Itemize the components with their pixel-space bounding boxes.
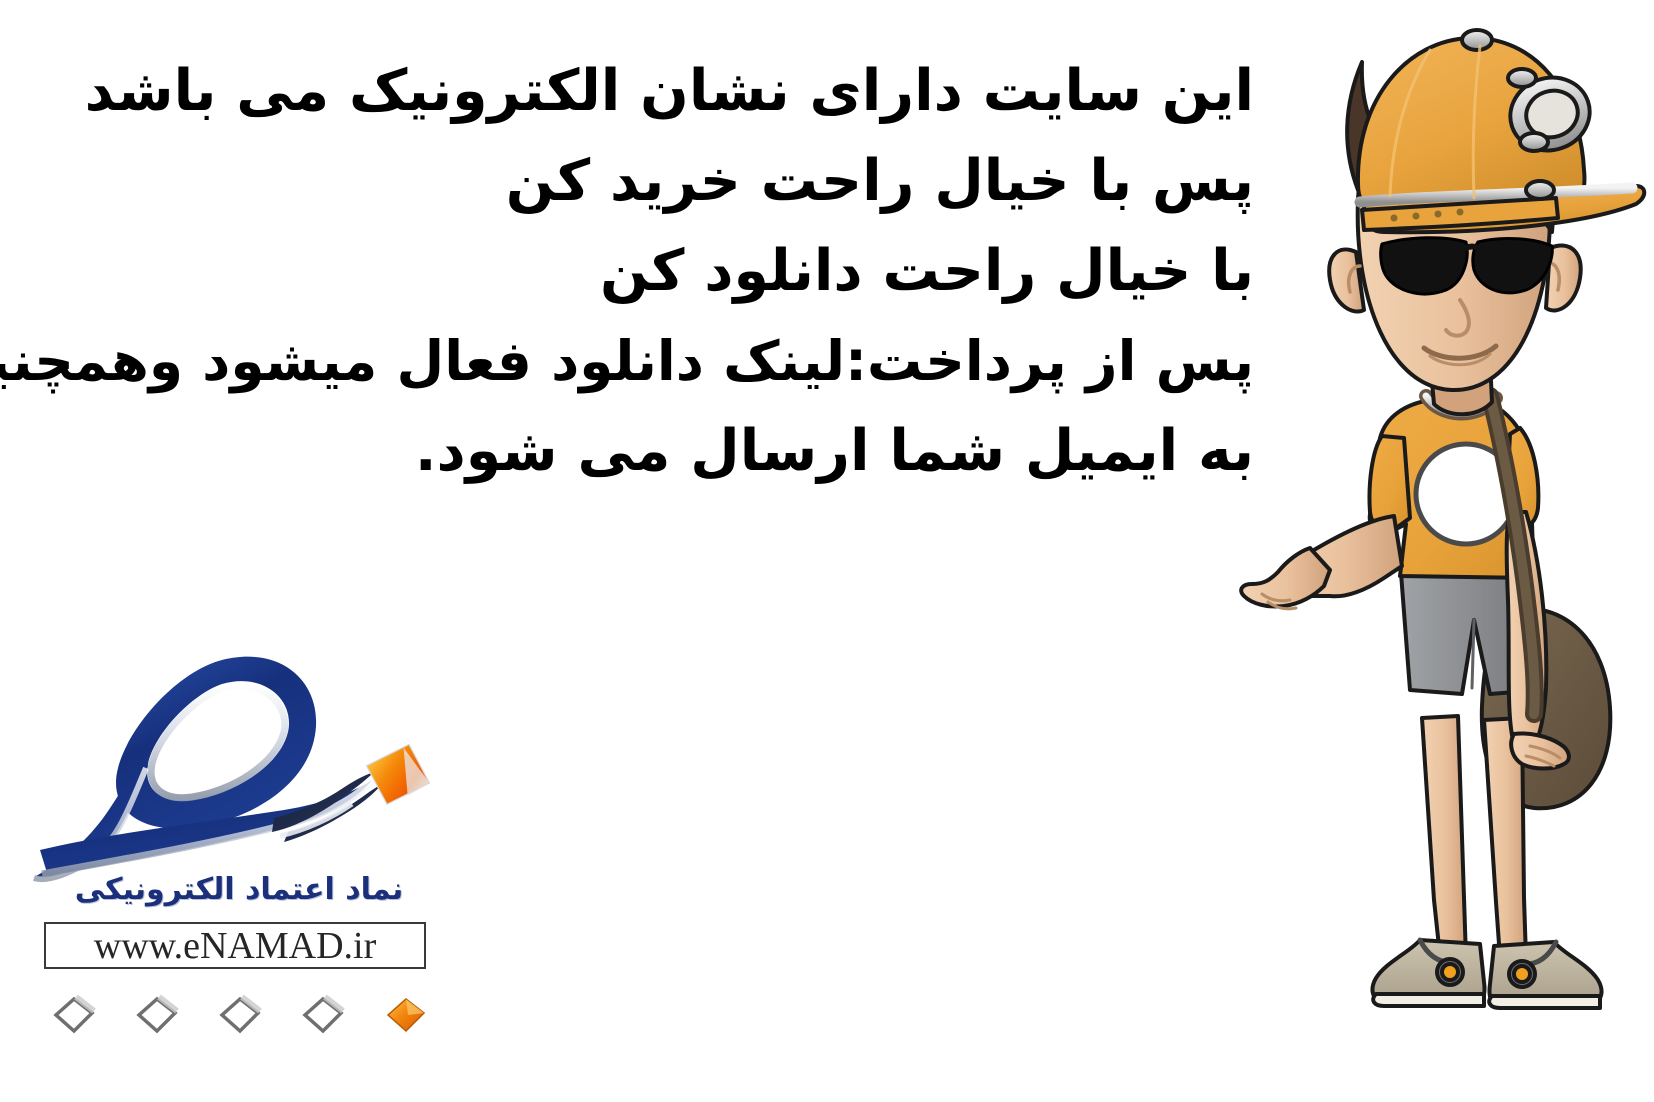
rating-diamond-empty xyxy=(135,993,179,1037)
enamad-logo-icon xyxy=(26,636,446,886)
rating-diamond-filled xyxy=(384,993,428,1037)
rating-diamond-empty xyxy=(52,993,96,1037)
enamad-trust-seal[interactable]: نماد اعتماد الکترونیکی www.eNAMAD.ir xyxy=(26,636,446,1056)
message-block: این سایت دارای نشان الکترونیک می باشد پس… xyxy=(40,46,1254,496)
message-line-3: با خیال راحت دانلود کن xyxy=(40,226,1254,316)
message-line-2: پس با خیال راحت خرید کن xyxy=(40,136,1254,226)
message-line-1: این سایت دارای نشان الکترونیک می باشد xyxy=(40,46,1254,136)
rating-diamond-empty xyxy=(218,993,262,1037)
enamad-trust-banner: این سایت دارای نشان الکترونیک می باشد پس… xyxy=(0,0,1654,1102)
message-line-5: به ایمیل شما ارسال می شود. xyxy=(40,406,1254,496)
message-line-4: پس از پرداخت:لینک دانلود فعال میشود وهمچ… xyxy=(40,316,1254,406)
enamad-rating-stars xyxy=(58,986,428,1044)
pointing-boy-mascot-icon xyxy=(1234,0,1654,1102)
rating-diamond-empty xyxy=(301,993,345,1037)
enamad-persian-caption: نماد اعتماد الکترونیکی xyxy=(44,872,434,907)
enamad-url-box[interactable]: www.eNAMAD.ir xyxy=(44,922,426,969)
enamad-url-text: www.eNAMAD.ir xyxy=(94,927,377,965)
